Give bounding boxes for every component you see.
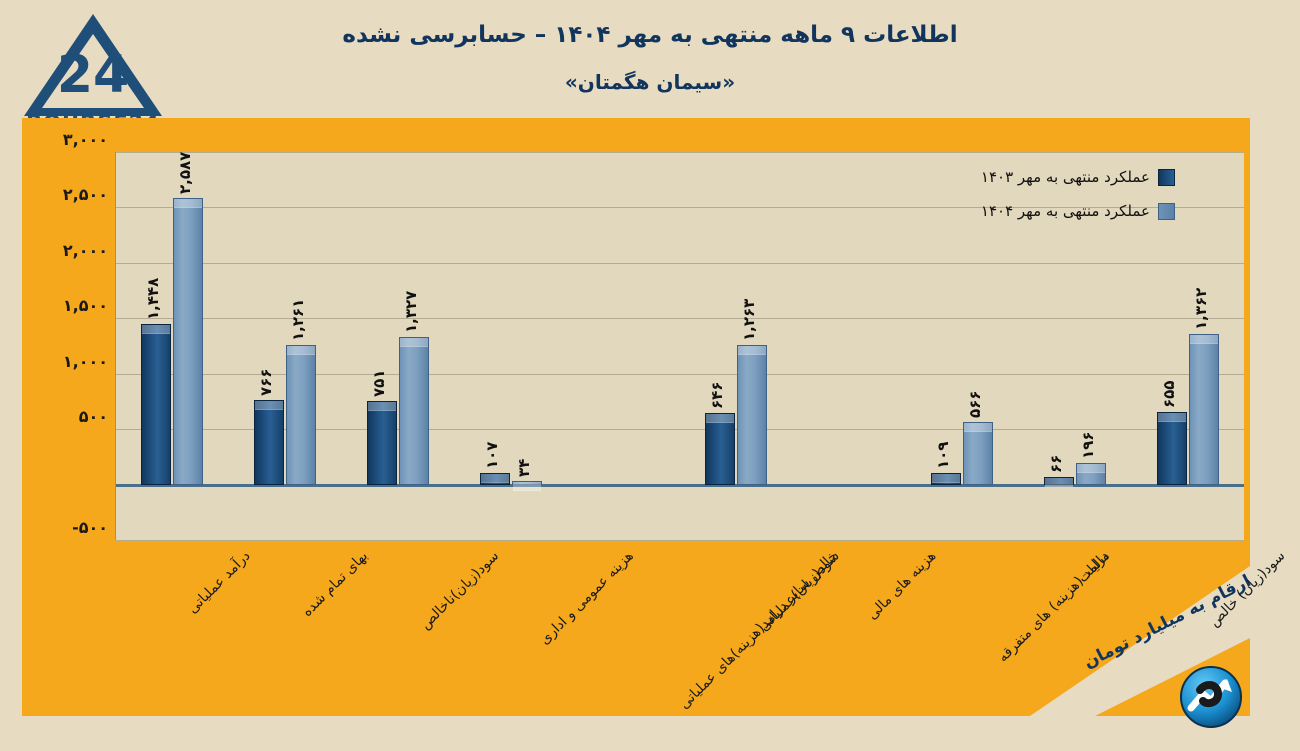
bar-group: ۷۶۶۱,۲۶۱ <box>229 152 342 540</box>
bar-1404[interactable] <box>399 337 429 484</box>
bar-highlight <box>142 325 170 334</box>
bar-value-label: ۲,۵۸۷ <box>176 151 194 193</box>
bar-group <box>567 152 680 540</box>
legend-label-1404: عملکرد منتهی به مهر ۱۴۰۴ <box>981 202 1150 220</box>
bar-1404[interactable] <box>963 422 993 485</box>
bar-1404[interactable] <box>512 481 542 485</box>
bar-1403[interactable] <box>1157 412 1187 485</box>
bar-1404[interactable] <box>286 345 316 485</box>
bar-highlight <box>738 346 766 355</box>
bar-highlight <box>1045 478 1073 487</box>
bar-1403[interactable] <box>931 473 961 485</box>
bar-value-label: ۶۶ <box>1047 455 1065 473</box>
gridline <box>116 540 1244 541</box>
chart-legend: عملکرد منتهی به مهر ۱۴۰۳ عملکرد منتهی به… <box>965 168 1175 236</box>
bar-group: ۱,۴۴۸۲,۵۸۷ <box>116 152 229 540</box>
y-axis-tick-label: ۱,۵۰۰ <box>20 296 108 315</box>
y-axis-tick-label: -۵۰۰ <box>20 518 108 537</box>
bar-1404[interactable] <box>1076 463 1106 485</box>
bar-highlight <box>368 402 396 411</box>
page-title: اطلاعات ۹ ماهه منتهی به مهر ۱۴۰۴ – حسابر… <box>250 22 1050 48</box>
bar-value-label: ۶۵۵ <box>1160 381 1178 408</box>
legend-label-1403: عملکرد منتهی به مهر ۱۴۰۳ <box>981 168 1150 186</box>
bar-group: ۶۴۶۱,۲۶۳ <box>680 152 793 540</box>
bar-highlight <box>1077 464 1105 473</box>
bar-1403[interactable] <box>480 473 510 485</box>
bar-value-label: ۱۹۶ <box>1079 431 1097 458</box>
bourse24-logo: 24 BOURSE24 <box>18 8 168 133</box>
bar-highlight <box>1158 413 1186 422</box>
legend-item-1403[interactable]: عملکرد منتهی به مهر ۱۴۰۳ <box>965 168 1175 186</box>
bar-highlight <box>287 346 315 355</box>
legend-swatch-1404 <box>1158 203 1175 220</box>
bar-group: ۷۵۱۱,۳۲۷ <box>342 152 455 540</box>
bar-highlight <box>932 474 960 483</box>
bar-group: ۱۰۷۳۴ <box>454 152 567 540</box>
bar-1403[interactable] <box>141 324 171 485</box>
svg-text:24: 24 <box>57 45 129 105</box>
bar-1403[interactable] <box>705 413 735 485</box>
y-axis-tick-label: ۱,۰۰۰ <box>20 352 108 371</box>
bar-value-label: ۱,۳۲۷ <box>402 291 420 333</box>
legend-swatch-1403 <box>1158 169 1175 186</box>
legend-item-1404[interactable]: عملکرد منتهی به مهر ۱۴۰۴ <box>965 202 1175 220</box>
bar-value-label: ۱,۲۶۳ <box>740 298 758 340</box>
bourse24-brandmark-icon <box>1180 666 1242 728</box>
bar-value-label: ۷۶۶ <box>257 368 275 395</box>
page-header: 24 BOURSE24 اطلاعات ۹ ماهه منتهی به مهر … <box>0 0 1300 120</box>
bar-highlight <box>174 199 202 208</box>
bar-highlight <box>706 414 734 423</box>
bar-highlight <box>1190 335 1218 344</box>
bar-value-label: ۵۶۶ <box>966 390 984 417</box>
y-axis-tick-label: ۲,۰۰۰ <box>20 241 108 260</box>
bar-value-label: ۱,۲۶۱ <box>289 298 307 340</box>
y-axis-tick-label: ۳,۰۰۰ <box>20 130 108 149</box>
y-axis-tick-label: ۵۰۰ <box>20 407 108 426</box>
bar-value-label: ۱۰۹ <box>934 441 952 468</box>
bar-value-label: ۷۵۱ <box>370 370 388 397</box>
bar-1404[interactable] <box>173 198 203 485</box>
bar-1403[interactable] <box>254 400 284 485</box>
bar-value-label: ۱,۴۴۸ <box>144 278 162 320</box>
bar-value-label: ۱,۳۶۲ <box>1192 287 1210 329</box>
bar-highlight <box>513 482 541 491</box>
bar-value-label: ۱۰۷ <box>483 441 501 468</box>
bar-value-label: ۶۴۶ <box>708 382 726 409</box>
bar-group <box>793 152 906 540</box>
bar-1404[interactable] <box>737 345 767 485</box>
y-axis-tick-label: ۲,۵۰۰ <box>20 185 108 204</box>
bar-highlight <box>255 401 283 410</box>
bar-1404[interactable] <box>1189 334 1219 485</box>
bar-highlight <box>400 338 428 347</box>
bar-highlight <box>481 474 509 483</box>
bar-highlight <box>964 423 992 432</box>
bar-1403[interactable] <box>1044 477 1074 484</box>
page-subtitle: «سیمان هگمتان» <box>250 70 1050 94</box>
bar-value-label: ۳۴ <box>515 459 533 477</box>
bar-1403[interactable] <box>367 401 397 484</box>
